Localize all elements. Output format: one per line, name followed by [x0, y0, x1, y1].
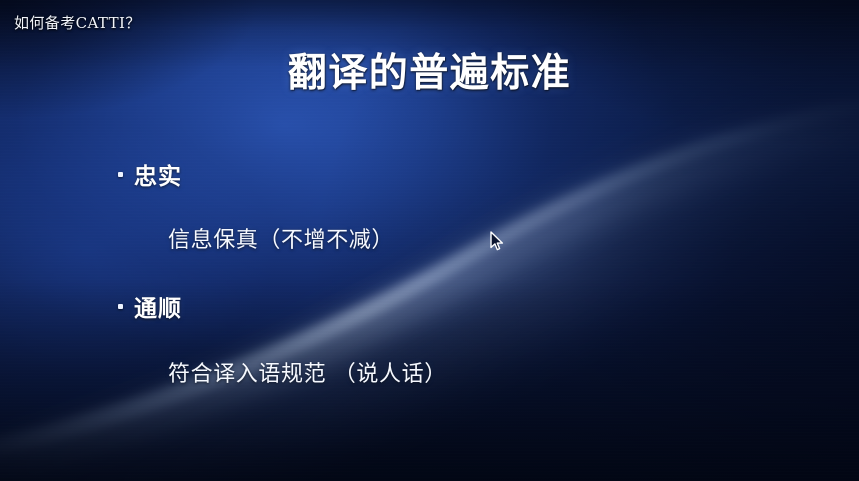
bullet-item-1-label: 忠实 [134, 157, 182, 191]
bullet-dot-icon [118, 304, 123, 309]
bullet-item-2: 通顺 [118, 289, 182, 323]
bullet-item-2-label: 通顺 [134, 289, 182, 323]
bullet-dot-icon [118, 172, 123, 177]
slide-header-text: 如何备考CATTI？ [14, 16, 141, 31]
mouse-cursor-arrow-icon [489, 231, 505, 253]
slide-title: 翻译的普遍标准 [0, 54, 859, 93]
bullet-item-2-subtext: 符合译入语规范 （说人话） [168, 356, 447, 388]
presentation-slide: 如何备考CATTI？ 翻译的普遍标准 忠实 信息保真（不增不减） 通顺 符合译入… [0, 0, 859, 481]
bullet-item-1-subtext: 信息保真（不增不减） [168, 222, 394, 254]
bullet-item-1: 忠实 [118, 157, 182, 191]
